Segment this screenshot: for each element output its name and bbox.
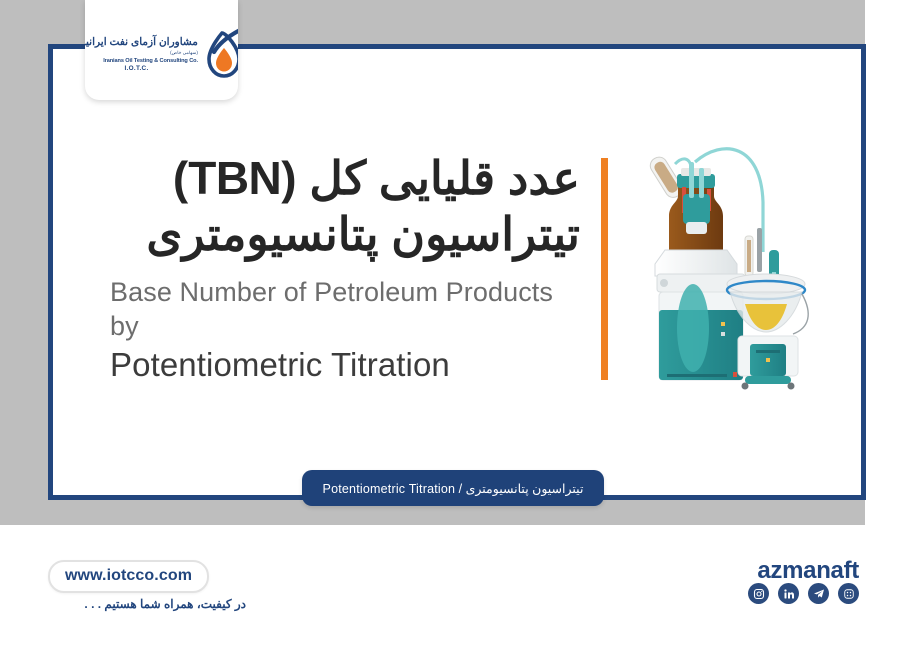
headline-block: عدد قلیایی کل (TBN) تیتراسیون پتانسیومتر… <box>110 150 580 385</box>
potentiometric-titrator-illustration <box>633 132 833 397</box>
poster-canvas: مشاوران آزمای نفت ایرانیان (سهامی خاص) I… <box>0 0 907 646</box>
logo-subtitle-fa: (سهامی خاص) <box>85 50 198 56</box>
brand-handle: azmanaft <box>757 557 859 585</box>
logo-name-en: Iranians Oil Testing & Consulting Co. <box>85 58 198 64</box>
subtitle-en-line1: Base Number of Petroleum Products by <box>110 276 580 344</box>
website-url: www.iotcco.com <box>65 567 192 584</box>
logo-text-block: مشاوران آزمای نفت ایرانیان (سهامی خاص) I… <box>85 36 198 71</box>
title-fa-line2: تیتراسیون پتانسیومتری <box>110 206 580 262</box>
website-pill[interactable]: www.iotcco.com <box>48 560 209 593</box>
subject-tag-label: تیتراسیون پتانسیومتری / Potentiometric T… <box>323 481 584 496</box>
subject-tag: تیتراسیون پتانسیومتری / Potentiometric T… <box>302 470 604 506</box>
subtitle-en-line2: Potentiometric Titration <box>110 345 580 385</box>
title-fa-line1: عدد قلیایی کل (TBN) <box>173 152 580 204</box>
flame-drop-logo-icon <box>202 26 238 82</box>
logo-name-fa: مشاوران آزمای نفت ایرانیان <box>85 36 198 48</box>
linkedin-icon[interactable] <box>778 583 799 604</box>
telegram-icon[interactable] <box>808 583 829 604</box>
orange-divider-bar <box>601 158 608 380</box>
company-logo-card: مشاوران آزمای نفت ایرانیان (سهامی خاص) I… <box>85 0 238 100</box>
footer: www.iotcco.com در کیفیت، همراه شما هستیم… <box>0 525 907 646</box>
bale-icon[interactable] <box>838 583 859 604</box>
social-links <box>748 583 859 604</box>
title-fa: عدد قلیایی کل (TBN) تیتراسیون پتانسیومتر… <box>110 150 580 262</box>
logo-abbreviation: I.O.T.C. <box>85 65 198 72</box>
company-slogan: در کیفیت، همراه شما هستیم . . . <box>46 597 246 611</box>
instagram-icon[interactable] <box>748 583 769 604</box>
